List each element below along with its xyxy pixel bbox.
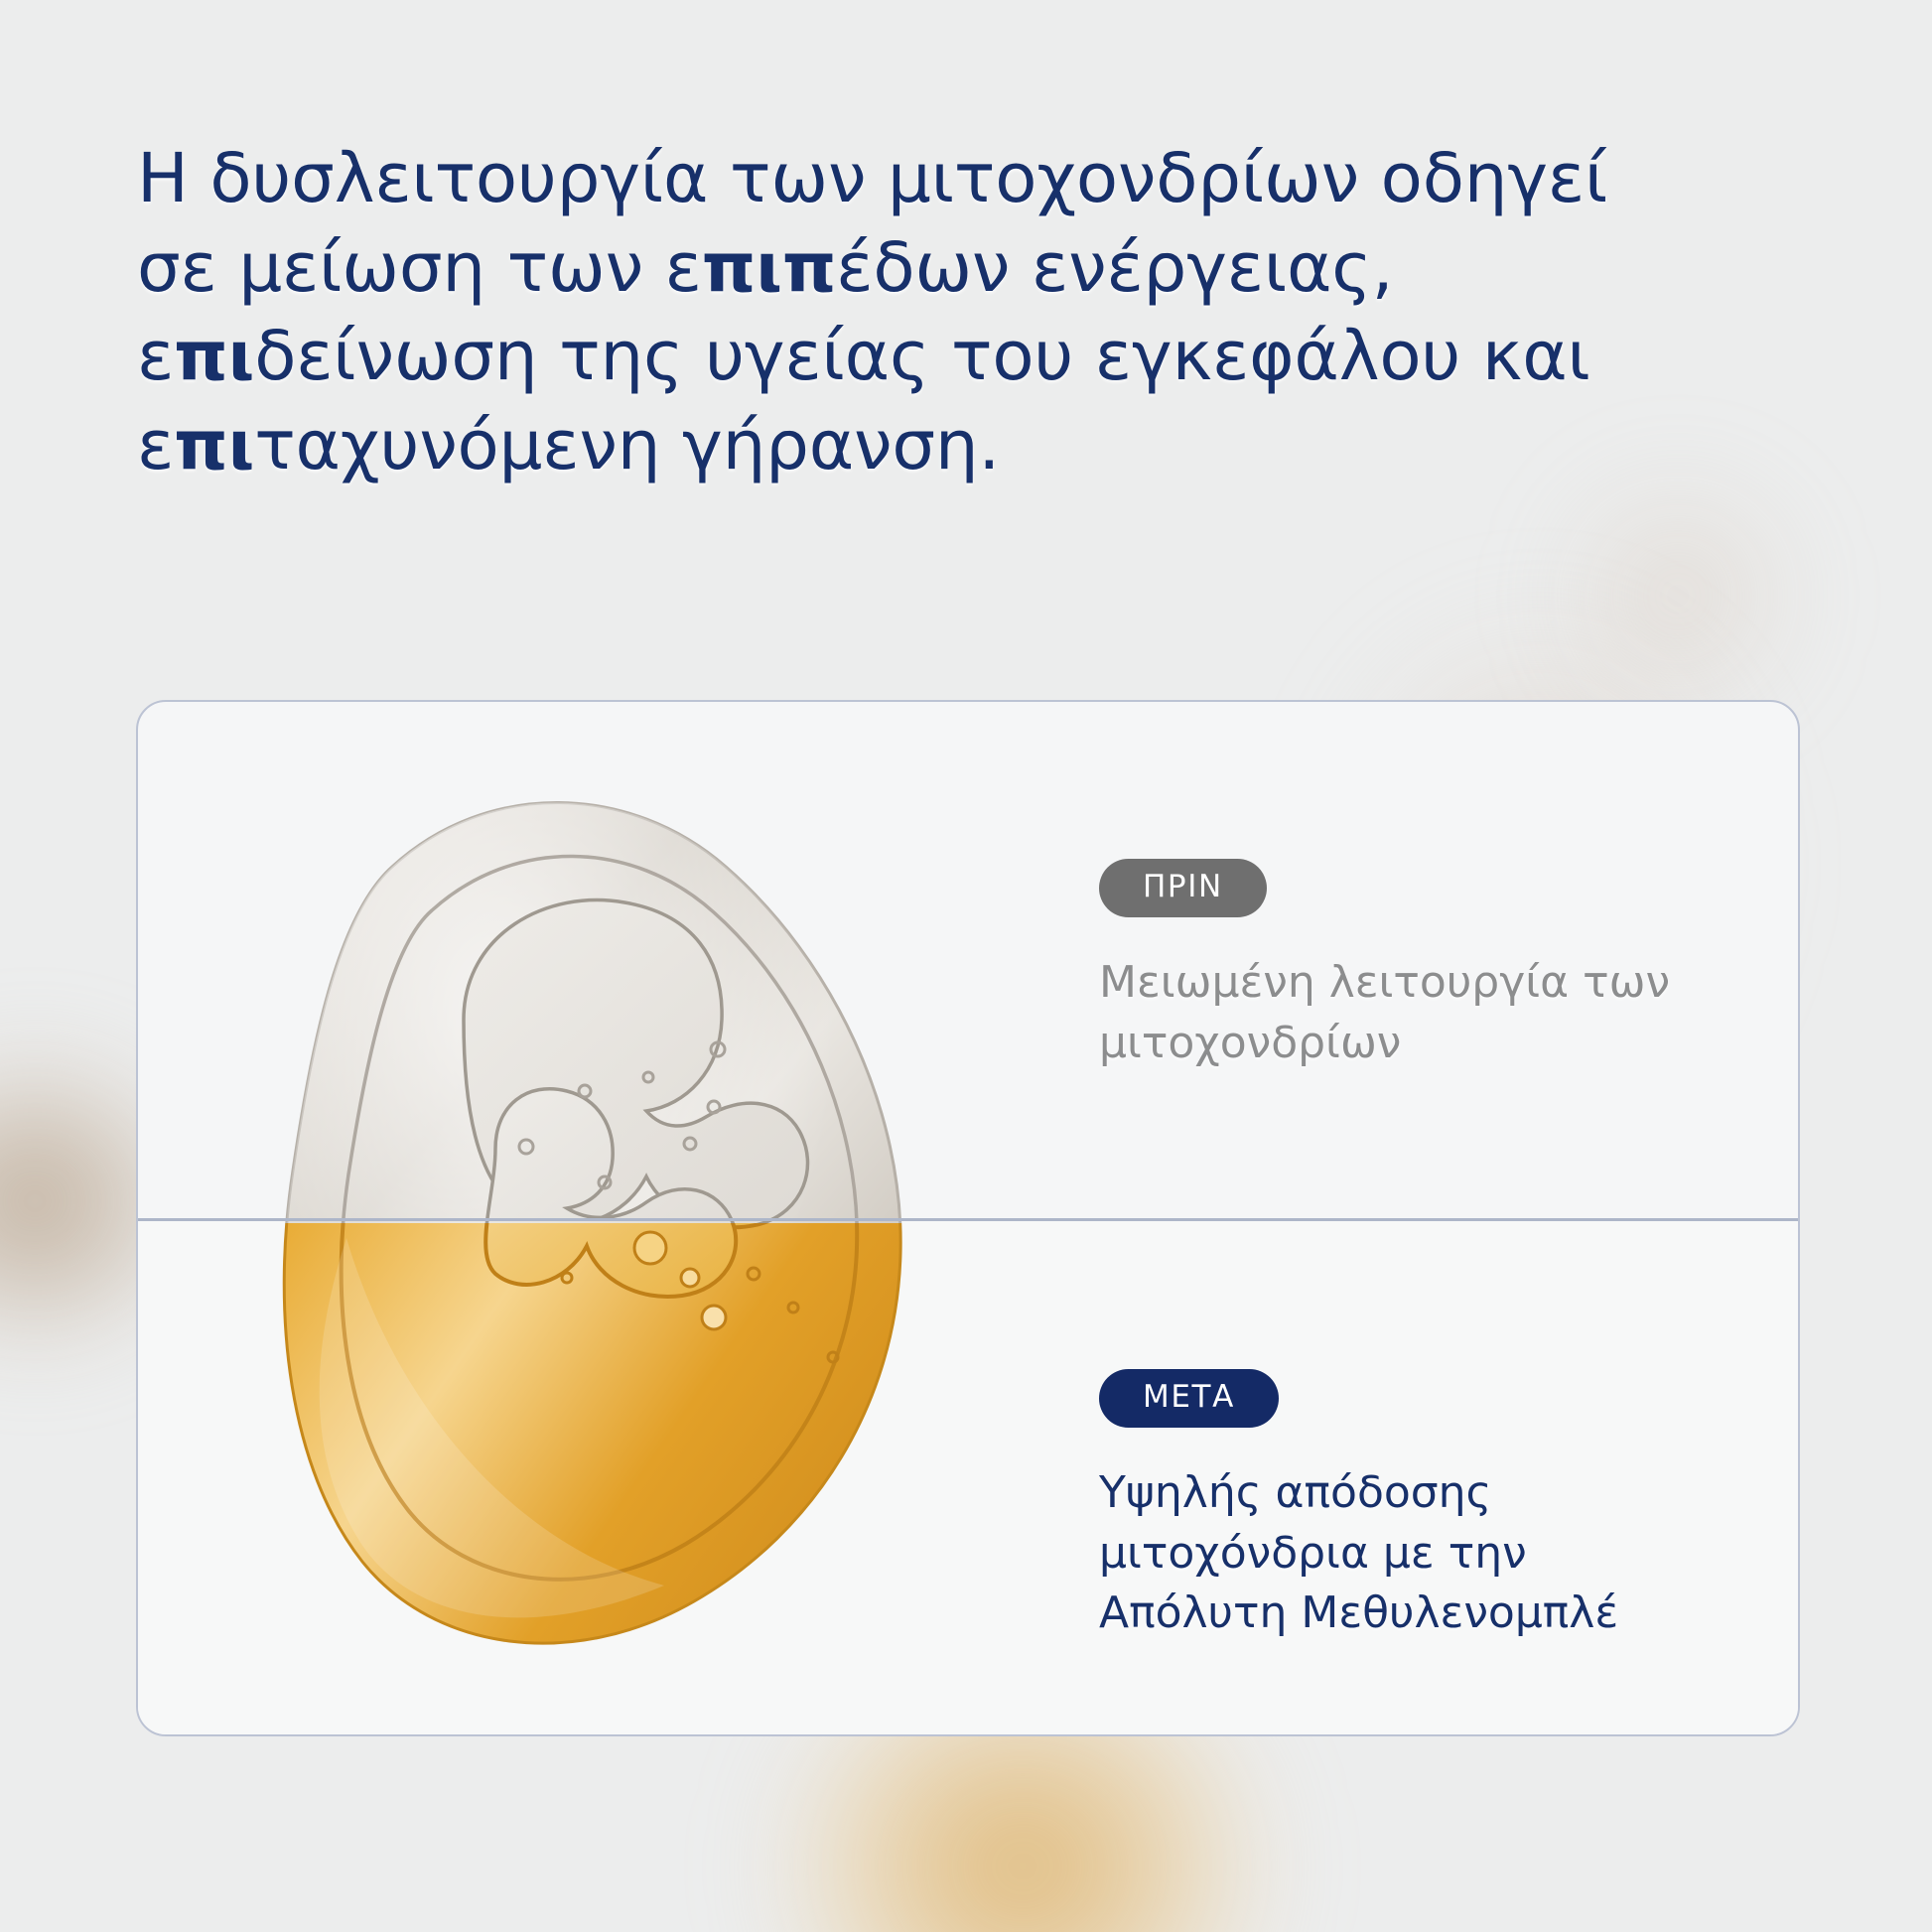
headline-line-2-part-1: σε μείωση των ε bbox=[137, 228, 702, 308]
page-headline: Η δυσλειτουργία των μιτοχονδρίων οδηγεί … bbox=[137, 135, 1765, 491]
headline-line-4-part-2: ταχυνόμενη γήρανση. bbox=[254, 406, 1000, 485]
headline-line-3-part-1: ε bbox=[137, 317, 174, 396]
headline-line-2-bold: πιπ bbox=[702, 228, 836, 308]
headline-line-4-bold: πι bbox=[174, 406, 254, 485]
before-badge: ΠΡΙΝ bbox=[1099, 859, 1267, 917]
headline-line-2-part-2: έδων ενέργειας, bbox=[836, 228, 1393, 308]
mitochondrion-illustration bbox=[198, 722, 992, 1725]
headline-line-3-part-2: δείνωση της υγείας του εγκεφάλου και bbox=[254, 317, 1590, 396]
after-description: Υψηλής απόδοσης μιτοχόνδρια με την Απόλυ… bbox=[1099, 1463, 1715, 1644]
before-column: ΠΡΙΝ Μειωμένη λειτουργία των μιτοχονδρίω… bbox=[1099, 859, 1715, 1073]
before-after-comparison-card: ΠΡΙΝ Μειωμένη λειτουργία των μιτοχονδρίω… bbox=[136, 700, 1800, 1736]
headline-line-4-part-1: ε bbox=[137, 406, 174, 485]
after-column: ΜΕΤΑ Υψηλής απόδοσης μιτοχόνδρια με την … bbox=[1099, 1369, 1715, 1644]
headline-line-1: Η δυσλειτουργία των μιτοχονδρίων οδηγεί bbox=[137, 139, 1607, 218]
after-badge: ΜΕΤΑ bbox=[1099, 1369, 1279, 1428]
card-divider bbox=[138, 1218, 1798, 1221]
headline-line-3-bold: πι bbox=[174, 317, 254, 396]
before-description: Μειωμένη λειτουργία των μιτοχονδρίων bbox=[1099, 953, 1715, 1073]
